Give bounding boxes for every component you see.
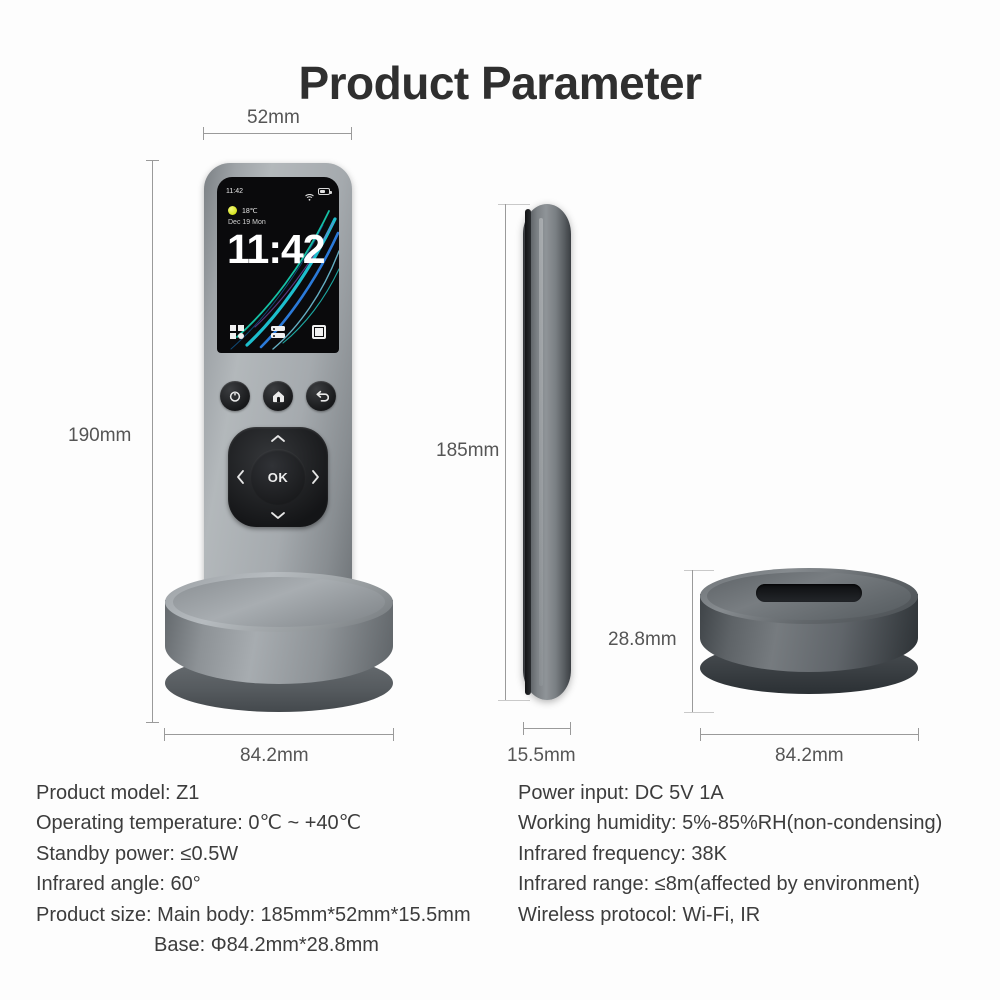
spec-item: Working humidity: 5%-85%RH(non-condensin… (518, 808, 942, 838)
remote-side-view (523, 204, 571, 700)
back-button[interactable] (306, 381, 336, 411)
ext-line (498, 700, 530, 701)
dim-label-front-width: 52mm (247, 107, 300, 129)
dock-top-inner (173, 577, 385, 627)
spec-item: Infrared frequency: 38K (518, 839, 942, 869)
dim-tick (393, 728, 394, 741)
dim-line-side-height (505, 204, 506, 700)
status-icons (305, 188, 330, 195)
dim-label-side-height: 185mm (436, 440, 499, 462)
dock-base-iso-view (700, 568, 918, 716)
dim-tick (570, 722, 571, 735)
home-button[interactable] (263, 381, 293, 411)
page-title: Product Parameter (0, 56, 1000, 110)
product-parameter-page: Product Parameter 52mm 190mm (0, 0, 1000, 1000)
dim-tick (203, 127, 204, 140)
side-screen-edge (525, 209, 531, 695)
wifi-icon (305, 188, 314, 195)
spec-item: Operating temperature: 0℃ ~ +40℃ (36, 808, 471, 838)
dim-tick (523, 722, 524, 735)
spec-item: Base: Φ84.2mm*28.8mm (36, 930, 471, 960)
dock-top (165, 572, 393, 632)
weather-temperature: 18℃ (242, 207, 258, 215)
screen-status-bar: 11:42 (217, 184, 339, 198)
dim-line-side-thickness (523, 728, 571, 729)
spec-column-left: Product model: Z1 Operating temperature:… (36, 778, 471, 960)
spec-item: Infrared angle: 60° (36, 869, 471, 899)
spec-item: Power input: DC 5V 1A (518, 778, 942, 808)
dim-tick (700, 728, 701, 741)
dpad-control[interactable]: OK (228, 427, 328, 527)
ext-line (498, 204, 530, 205)
screen-date: Dec 19 Mon (228, 219, 266, 226)
sun-icon (228, 206, 237, 215)
remote-front-view: 11:42 18℃ Dec 19 Mon (204, 163, 352, 615)
dim-line-base-height (692, 570, 693, 712)
side-highlight (539, 218, 543, 686)
chevron-down-icon[interactable] (270, 511, 286, 520)
dim-line-front-height (152, 160, 153, 722)
dim-label-front-height: 190mm (68, 425, 131, 447)
dim-label-base-height: 28.8mm (608, 629, 677, 651)
dim-tick (164, 728, 165, 741)
chevron-up-icon[interactable] (270, 434, 286, 443)
dim-line-base-width (700, 734, 919, 735)
status-time: 11:42 (226, 188, 243, 195)
ok-button-label: OK (268, 470, 289, 485)
dim-tick (918, 728, 919, 741)
grid-icon[interactable] (230, 325, 244, 339)
chevron-left-icon[interactable] (236, 469, 245, 485)
spec-item: Wireless protocol: Wi-Fi, IR (518, 900, 942, 930)
chevron-right-icon[interactable] (311, 469, 320, 485)
power-button[interactable] (220, 381, 250, 411)
ok-button[interactable]: OK (250, 449, 306, 505)
control-button-row (204, 381, 352, 411)
list-icon[interactable] (271, 325, 285, 339)
dim-line-front-width (203, 133, 352, 134)
dim-tick (146, 722, 159, 723)
dock-iso-slot (756, 584, 862, 602)
spec-item: Standby power: ≤0.5W (36, 839, 471, 869)
dim-label-front-base-width: 84.2mm (240, 745, 309, 767)
screen-nav-icons (217, 325, 339, 339)
spec-item: Product size: Main body: 185mm*52mm*15.5… (36, 900, 471, 930)
panel-icon[interactable] (312, 325, 326, 339)
home-icon (271, 389, 286, 404)
dim-label-base-width: 84.2mm (775, 745, 844, 767)
screen-clock: 11:42 (227, 229, 325, 270)
back-icon (314, 389, 329, 404)
dim-tick (146, 160, 159, 161)
power-icon (228, 389, 242, 403)
spec-item: Product model: Z1 (36, 778, 471, 808)
device-screen: 11:42 18℃ Dec 19 Mon (217, 177, 339, 353)
weather-widget: 18℃ (228, 206, 258, 215)
dim-label-side-thickness: 15.5mm (507, 745, 576, 767)
dim-line-front-base-width (164, 734, 394, 735)
battery-icon (318, 188, 330, 195)
dock-base-front-view (165, 572, 393, 712)
spec-column-right: Power input: DC 5V 1A Working humidity: … (518, 778, 942, 930)
spec-item: Infrared range: ≤8m(affected by environm… (518, 869, 942, 899)
dim-tick (351, 127, 352, 140)
